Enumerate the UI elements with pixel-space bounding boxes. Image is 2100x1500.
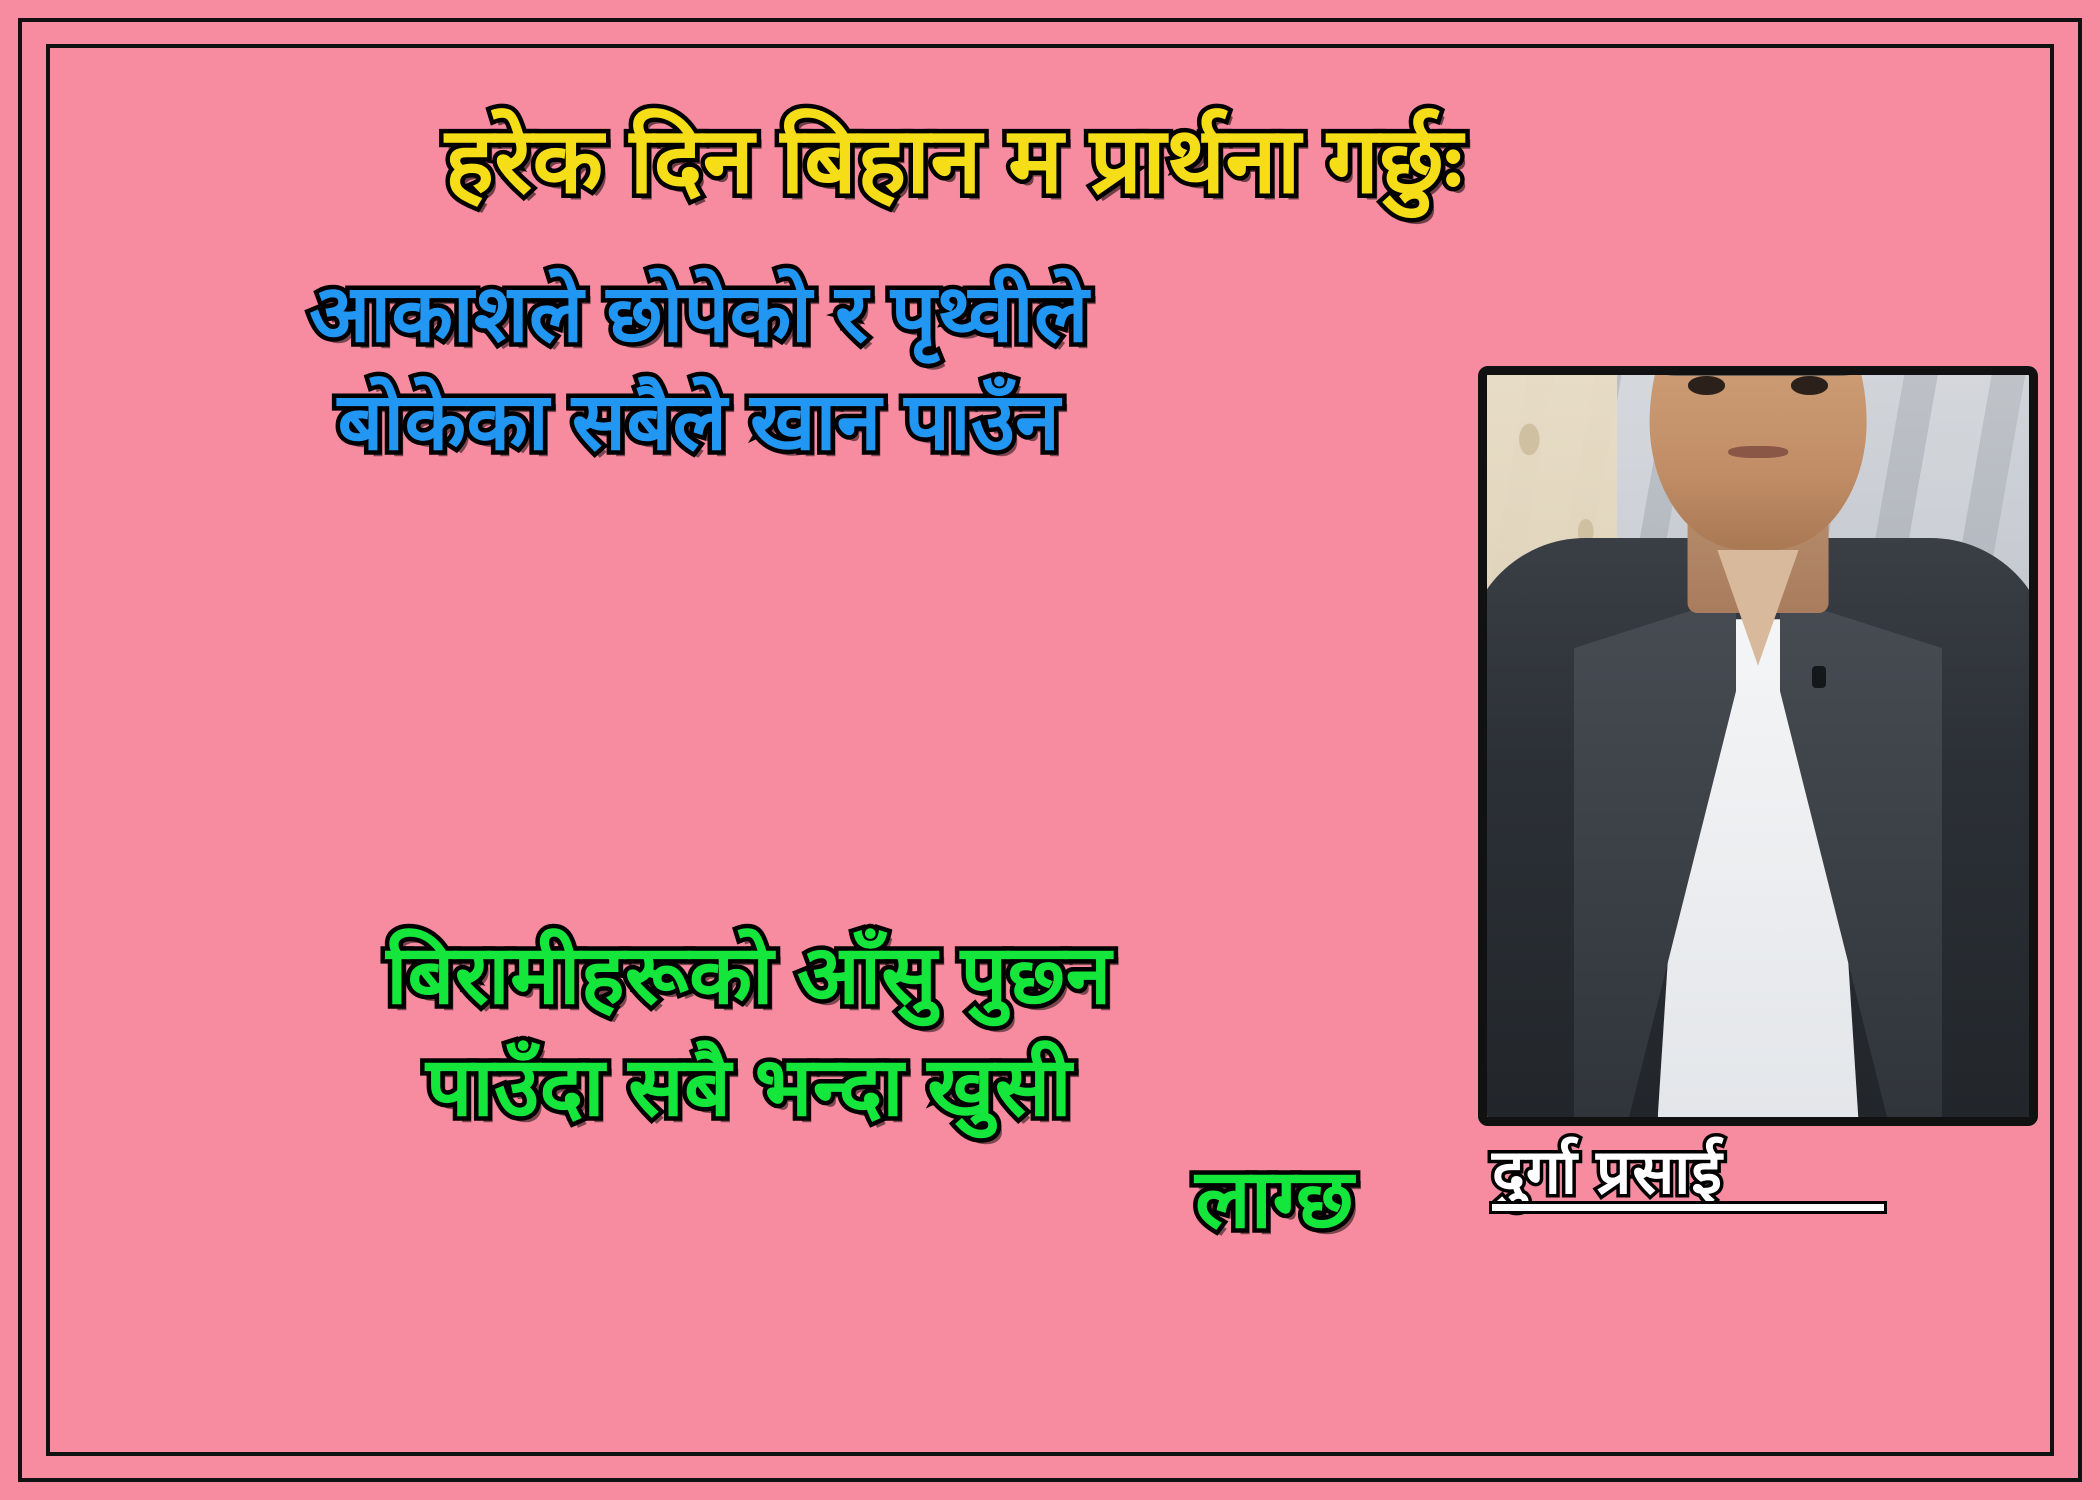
lapel-microphone-icon (1812, 666, 1826, 688)
blue-line-2: बोकेका सबैले खान पाउँन (84, 377, 1314, 467)
portrait-photo (1478, 366, 2038, 1126)
green-line-2: पाउँदा सबै भन्दा खुसी (84, 1042, 1414, 1134)
blue-line-1: आकाशले छोपेको र पृथ्वीले (84, 269, 1314, 359)
green-line-1: बिरामीहरूको आँसु पुछ्न (84, 930, 1414, 1022)
mouth (1728, 446, 1788, 459)
person-figure (1487, 538, 2029, 1117)
blue-text-block: आकाशले छोपेको र पृथ्वीले बोकेका सबैले खा… (84, 269, 1314, 466)
name-underline (1492, 1204, 1884, 1211)
green-line-3: लाग्छ (84, 1154, 1414, 1246)
poster-canvas: हरेक दिन बिहान म प्रार्थना गर्छुः आकाशले… (0, 0, 2100, 1500)
green-text-block: बिरामीहरूको आँसु पुछ्न पाउँदा सबै भन्दा … (84, 930, 1414, 1265)
person-name-caption: दुर्गा प्रसाई (1492, 1128, 1723, 1212)
photo-inner (1487, 375, 2029, 1117)
hair (1644, 375, 1872, 376)
poster-heading: हरेक दिन बिहान म प्रार्थना गर्छुः (84, 110, 1824, 213)
